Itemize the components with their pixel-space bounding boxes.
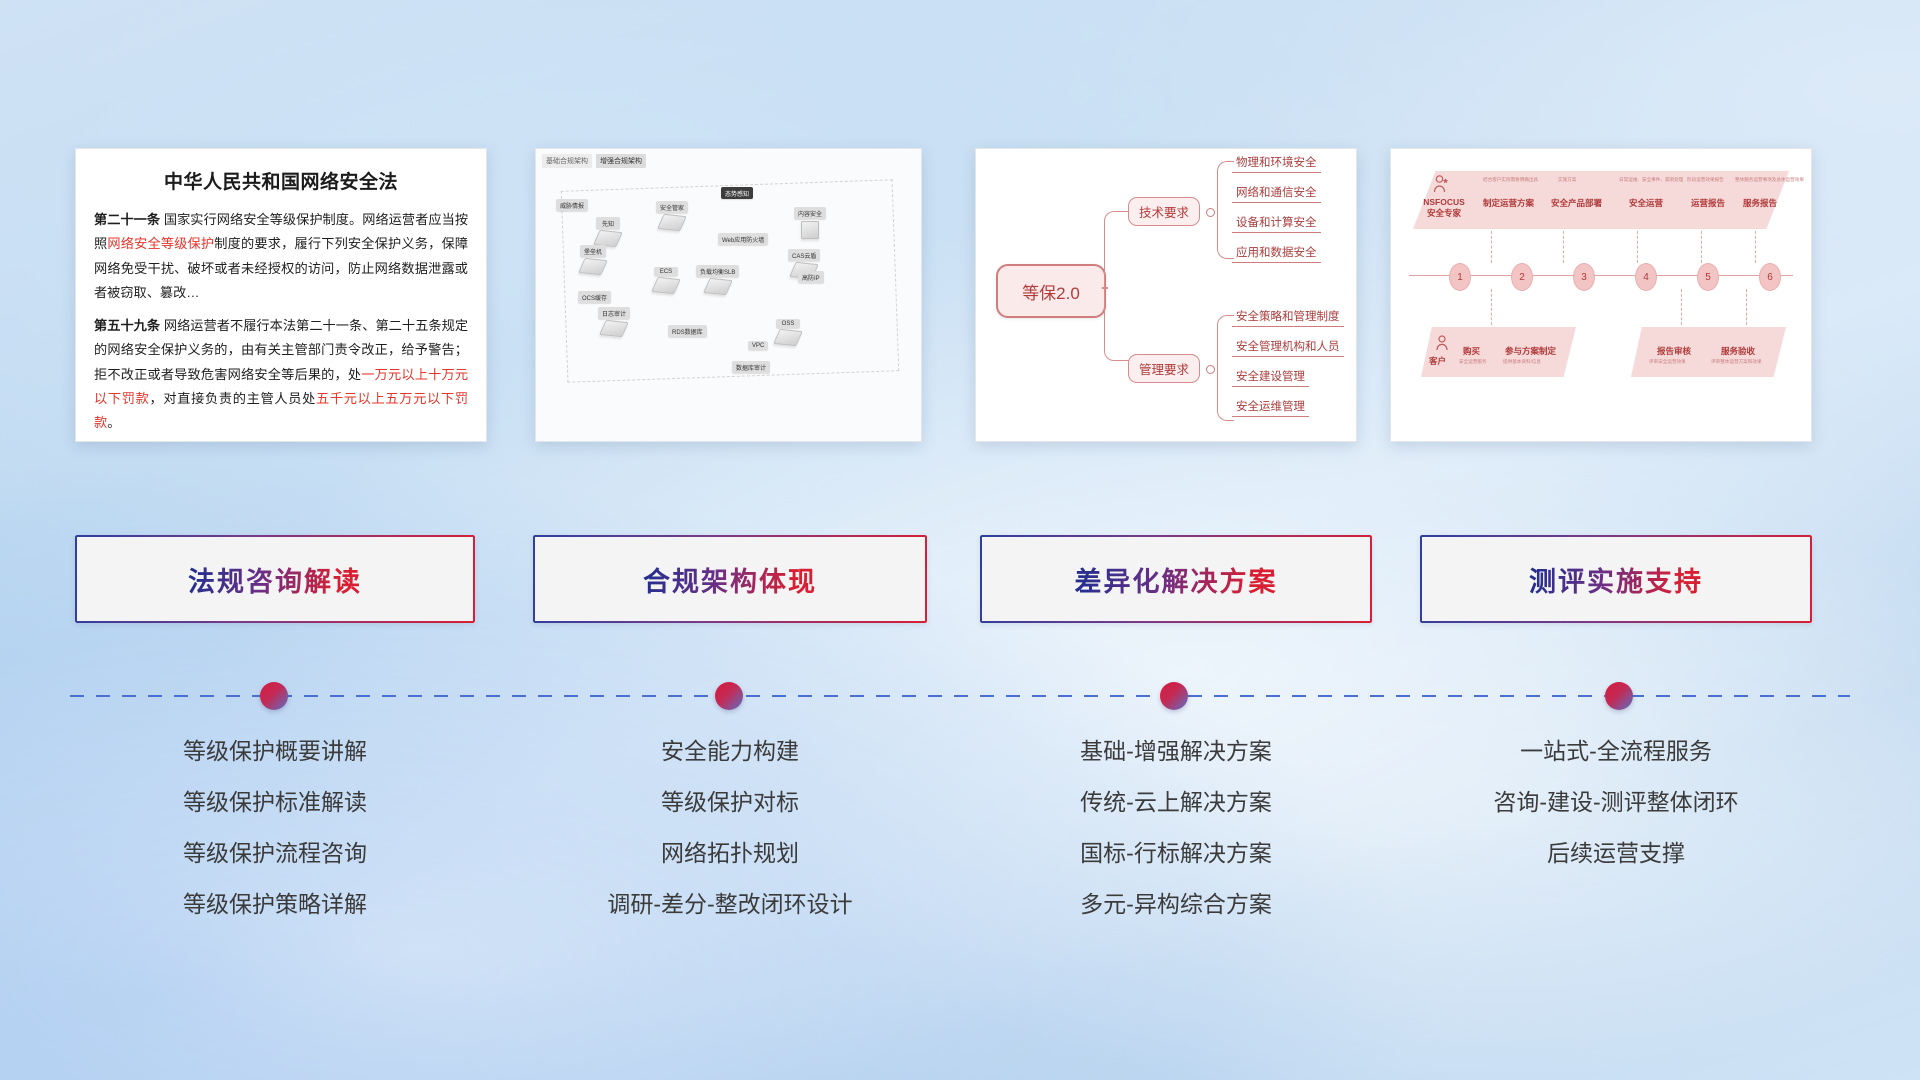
flow-br-stage-1-sub: 评审安全运营效果 <box>1649 359 1686 365</box>
law-article-59: 第五十九条 网络运营者不履行本法第二十一条、第二十五条规定的网络安全保护义务的，… <box>94 314 468 436</box>
flow-stage-3-sub: 日常运维、安全事件、漏洞处理 <box>1619 177 1683 183</box>
list-item: 咨询-建设-测评整体闭环 <box>1420 791 1812 814</box>
arch-node-xianzhi: 先知 <box>596 217 620 246</box>
flow-bl-stage-2-sub: 提供基本资料/信息 <box>1503 359 1541 365</box>
timeline-dashed-line <box>70 695 1850 697</box>
flow-stage-5-sub: 整体服务运营事项及总体运营效果 <box>1735 177 1804 183</box>
law-text-body: 中华人民共和国网络安全法 第二十一条 国家实行网络安全等级保护制度。网络运营者应… <box>76 149 486 441</box>
headline-label: 测评实施支持 <box>1529 560 1703 599</box>
timeline-dot-4 <box>1605 682 1633 710</box>
arch-node-threat-intel: 威胁情报 <box>556 199 588 211</box>
mindmap: 等保2.0 技术要求 物理和环境安全 网络和通信安全 设备和计算安全 应用和数据… <box>976 149 1356 441</box>
list-item: 传统-云上解决方案 <box>980 791 1372 814</box>
mindmap-root-node: 等保2.0 <box>996 264 1106 318</box>
law-article-21-highlight: 网络安全等级保护 <box>107 236 214 251</box>
flow-connector <box>1681 289 1683 325</box>
arch-node-label: VPC <box>748 341 768 350</box>
arch-node-label: 态势感知 <box>721 187 753 199</box>
flow-bl-stage-1-title: 购买 <box>1463 345 1480 357</box>
mindmap-leaf-org-personnel: 安全管理机构和人员 <box>1232 337 1344 357</box>
card-compliance-architecture[interactable]: 基础合规架构 增强合规架构 态势感知 先知 安全管家 威胁情报 堡垒机 <box>535 148 922 442</box>
arch-node-security-butler: 安全管家 <box>656 201 688 230</box>
headline-label: 差异化解决方案 <box>1075 560 1278 599</box>
arch-node-ecs: ECS <box>654 267 678 293</box>
detail-column-regulation-consulting: 等级保护概要讲解 等级保护标准解读 等级保护流程咨询 等级保护策略详解 <box>75 740 475 944</box>
detail-column-compliance-architecture: 安全能力构建 等级保护对标 网络拓扑规划 调研-差分-整改闭环设计 <box>533 740 927 944</box>
flow-stage-1-sub: 结合客户实际需要明确出具 <box>1483 177 1538 183</box>
arch-node-label: 先知 <box>596 217 620 229</box>
list-item: 调研-差分-整改闭环设计 <box>533 893 927 916</box>
list-item: 基础-增强解决方案 <box>980 740 1372 763</box>
arch-node-label: ECS <box>654 267 678 276</box>
flow-bottom-right-band <box>1631 327 1786 377</box>
headline-row: 法规咨询解读 合规架构体现 差异化解决方案 测评实施支持 <box>0 535 1920 630</box>
arch-node-label: 日志审计 <box>598 307 630 319</box>
arch-node-anti-ddos: 高防IP <box>798 271 824 283</box>
arch-node-label: 堡垒机 <box>580 245 606 257</box>
flow-stage-2-title: 安全产品部署 <box>1551 197 1602 209</box>
list-item: 等级保护对标 <box>533 791 927 814</box>
flow-stage-3-title: 安全运营 <box>1629 197 1663 209</box>
flow-connector <box>1755 231 1757 263</box>
headline-label: 合规架构体现 <box>643 560 817 599</box>
list-item: 等级保护概要讲解 <box>75 740 475 763</box>
card-service-flow[interactable]: NSFOCUS 安全专家 结合客户实际需要明确出具 制定运营方案 实施方案 安全… <box>1390 148 1812 442</box>
preview-cards-row: 中华人民共和国网络安全法 第二十一条 国家实行网络安全等级保护制度。网络运营者应… <box>0 148 1920 443</box>
flow-step-6: 6 <box>1759 263 1781 291</box>
headline-box-assessment-support[interactable]: 测评实施支持 <box>1420 535 1812 623</box>
mindmap-root-stem <box>1102 287 1108 289</box>
mindmap-branch-technical: 技术要求 <box>1128 197 1200 226</box>
law-article-59-text-b: ，对直接负责的主管人员处 <box>150 391 317 406</box>
list-item: 等级保护策略详解 <box>75 893 475 916</box>
flow-step-3: 3 <box>1573 263 1595 291</box>
arch-node-label: 内容安全 <box>794 207 826 219</box>
flow-stage-1-title: 制定运营方案 <box>1483 197 1534 209</box>
arch-node-vpc: VPC <box>748 341 768 350</box>
mindmap-branch-management-dot <box>1206 365 1215 374</box>
timeline-dot-2 <box>715 682 743 710</box>
customer-person-icon <box>1435 335 1449 356</box>
timeline-dot-3 <box>1160 682 1188 710</box>
headline-box-differentiated-solution[interactable]: 差异化解决方案 <box>980 535 1372 623</box>
arch-node-waf: Web应用防火墙 <box>718 233 768 245</box>
tab-enhanced-architecture[interactable]: 增强合规架构 <box>596 154 646 168</box>
flow-br-stage-2-title: 服务验收 <box>1721 345 1755 357</box>
mindmap-leaf-physical-env: 物理和环境安全 <box>1232 153 1321 173</box>
service-flow-diagram: NSFOCUS 安全专家 结合客户实际需要明确出具 制定运营方案 实施方案 安全… <box>1391 149 1811 441</box>
list-item: 等级保护标准解读 <box>75 791 475 814</box>
expert-person-icon <box>1433 175 1449 198</box>
law-article-59-text-c: 。 <box>107 415 120 430</box>
flow-bl-stage-1-sub: 安全运营服务 <box>1459 359 1487 365</box>
arch-node-cube-icon <box>599 320 629 338</box>
arch-node-label: Web应用防火墙 <box>718 233 768 245</box>
detail-column-assessment-support: 一站式-全流程服务 咨询-建设-测评整体闭环 后续运营支撑 <box>1420 740 1812 893</box>
arch-node-content-security: 内容安全 <box>794 207 826 239</box>
mindmap-leaf-app-data: 应用和数据安全 <box>1232 243 1321 263</box>
flow-role-expert: NSFOCUS 安全专家 <box>1421 197 1467 218</box>
list-item: 多元-异构综合方案 <box>980 893 1372 916</box>
mindmap-branch-technical-dot <box>1206 208 1215 217</box>
mindmap-leaf-construction-mgmt: 安全建设管理 <box>1232 367 1309 387</box>
mindmap-leaf-policy-system: 安全策略和管理制度 <box>1232 307 1344 327</box>
list-item: 安全能力构建 <box>533 740 927 763</box>
flow-connector <box>1491 289 1493 325</box>
mindmap-leaf-ops-mgmt: 安全运维管理 <box>1232 397 1309 417</box>
law-article-21-label: 第二十一条 <box>94 212 160 227</box>
flow-role-customer: 客户 <box>1429 355 1446 367</box>
card-mindmap-dengbao[interactable]: 等保2.0 技术要求 物理和环境安全 网络和通信安全 设备和计算安全 应用和数据… <box>975 148 1357 442</box>
arch-node-label: OSS <box>776 319 800 328</box>
arch-node-label: RDS数据库 <box>668 325 707 337</box>
arch-node-cube-icon <box>657 214 687 232</box>
detail-column-differentiated-solution: 基础-增强解决方案 传统-云上解决方案 国标-行标解决方案 多元-异构综合方案 <box>980 740 1372 944</box>
law-title: 中华人民共和国网络安全法 <box>94 167 468 194</box>
arch-node-cube-icon <box>801 221 819 239</box>
headline-box-compliance-architecture[interactable]: 合规架构体现 <box>533 535 927 623</box>
list-item: 国标-行标解决方案 <box>980 842 1372 865</box>
law-article-59-label: 第五十九条 <box>94 318 160 333</box>
flow-connector <box>1701 231 1703 263</box>
arch-node-cube-icon <box>651 277 681 295</box>
flow-connector <box>1637 231 1639 263</box>
flow-step-5: 5 <box>1697 263 1719 291</box>
flow-stage-4-title: 运营报告 <box>1691 197 1725 209</box>
arch-node-label: CAS云盾 <box>788 249 820 261</box>
flow-bl-stage-2-title: 参与方案制定 <box>1505 345 1556 357</box>
arch-node-cube-icon <box>773 329 803 347</box>
flow-br-stage-1-title: 报告审核 <box>1657 345 1691 357</box>
arch-node-bastion-host: 堡垒机 <box>580 245 606 274</box>
arch-node-label: 威胁情报 <box>556 199 588 211</box>
arch-node-label: 负载均衡SLB <box>696 265 739 277</box>
arch-node-label: 高防IP <box>798 271 824 283</box>
flow-stage-5-title: 服务报告 <box>1743 197 1777 209</box>
arch-node-oss: OSS <box>776 319 800 345</box>
arch-node-label: 安全管家 <box>656 201 688 213</box>
flow-connector <box>1491 231 1493 263</box>
mindmap-root-connector <box>1104 211 1131 361</box>
architecture-tabs[interactable]: 基础合规架构 增强合规架构 <box>542 154 646 168</box>
list-item: 后续运营支撑 <box>1420 842 1812 865</box>
card-cybersecurity-law[interactable]: 中华人民共和国网络安全法 第二十一条 国家实行网络安全等级保护制度。网络运营者应… <box>75 148 487 442</box>
flow-stage-4-sub: 阶段运营效果报告 <box>1687 177 1724 183</box>
headline-label: 法规咨询解读 <box>188 560 362 599</box>
arch-node-ocs-cache: OCS缓存 <box>578 291 611 303</box>
headline-box-regulation-consulting[interactable]: 法规咨询解读 <box>75 535 475 623</box>
arch-node-label: OCS缓存 <box>578 291 611 303</box>
arch-node-cube-icon <box>703 278 733 296</box>
arch-node-situational-awareness: 态势感知 <box>721 187 753 199</box>
law-article-21: 第二十一条 国家实行网络安全等级保护制度。网络运营者应当按照网络安全等级保护制度… <box>94 208 468 306</box>
mindmap-leaf-network-comm: 网络和通信安全 <box>1232 183 1321 203</box>
flow-step-1: 1 <box>1449 263 1471 291</box>
mindmap-branch-management: 管理要求 <box>1128 354 1200 383</box>
list-item: 一站式-全流程服务 <box>1420 740 1812 763</box>
list-item: 等级保护流程咨询 <box>75 842 475 865</box>
timeline-dot-1 <box>260 682 288 710</box>
arch-node-cube-icon <box>578 258 608 276</box>
arch-node-label: 数据库审计 <box>732 361 770 373</box>
list-item: 网络拓扑规划 <box>533 842 927 865</box>
flow-step-2: 2 <box>1511 263 1533 291</box>
arch-node-slb: 负载均衡SLB <box>696 265 739 294</box>
tab-basic-architecture[interactable]: 基础合规架构 <box>542 154 592 168</box>
flow-connector <box>1563 231 1565 263</box>
flow-stage-2-sub: 实施方案 <box>1558 177 1576 183</box>
mindmap-leaf-device-compute: 设备和计算安全 <box>1232 213 1321 233</box>
arch-node-rds: RDS数据库 <box>668 325 707 337</box>
arch-node-log-audit: 日志审计 <box>598 307 630 336</box>
flow-step-4: 4 <box>1635 263 1657 291</box>
architecture-diagram: 基础合规架构 增强合规架构 态势感知 先知 安全管家 威胁情报 堡垒机 <box>536 149 921 441</box>
flow-br-stage-2-sub: 评审整体运营方案和效果 <box>1711 359 1762 365</box>
arch-node-db-audit: 数据库审计 <box>732 361 770 373</box>
flow-connector <box>1746 289 1748 325</box>
